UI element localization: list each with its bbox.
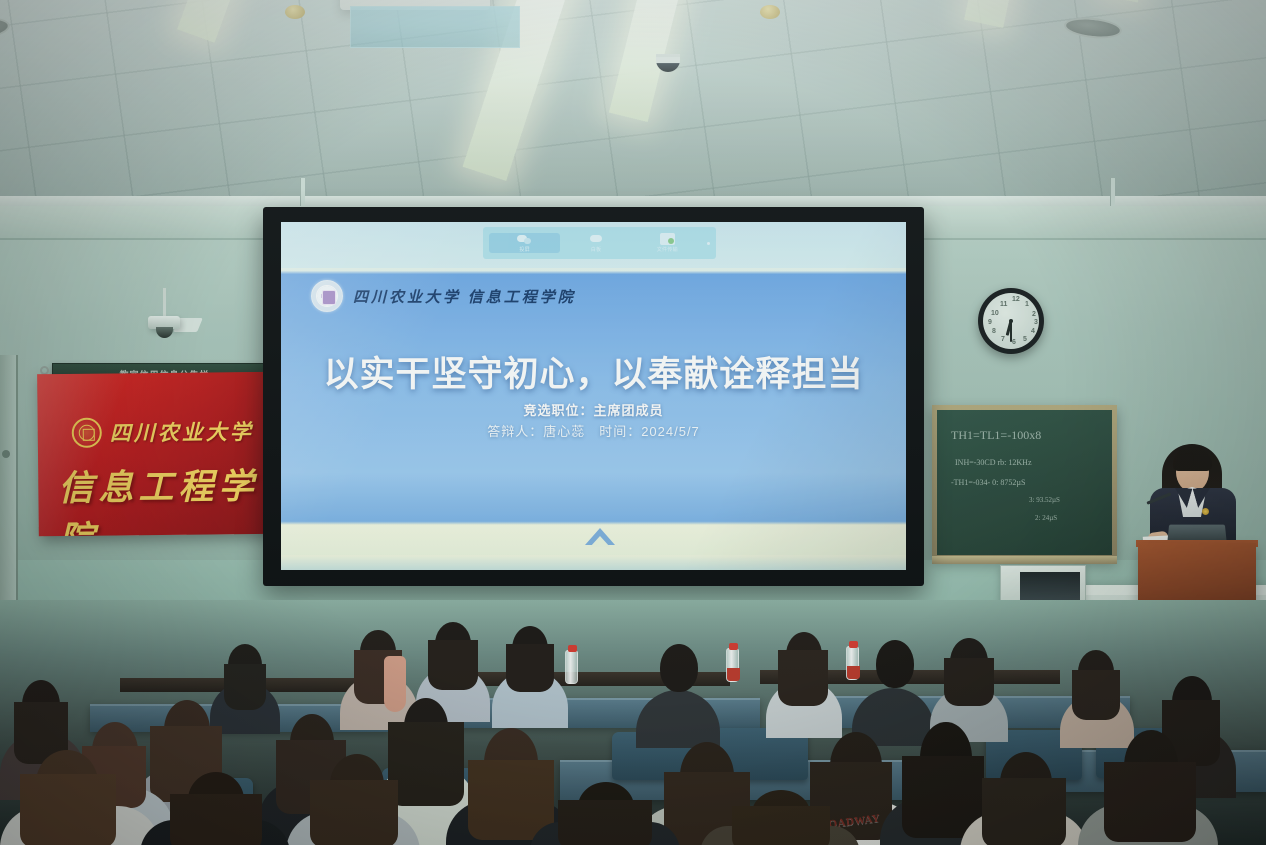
ceiling xyxy=(0,0,1266,210)
blackboard-line: INH=-30CD rb: 12KHz xyxy=(955,458,1032,467)
toolbar-label: 文件传输 xyxy=(657,246,678,253)
blackboard-line: 2: 24µS xyxy=(1035,514,1057,522)
audience-person xyxy=(140,770,290,845)
blackboard: TH1=TL1=-100x8 INH=-30CD rb: 12KHz -TH1=… xyxy=(937,410,1112,555)
audience-person xyxy=(1078,728,1218,845)
university-seal-icon xyxy=(72,418,102,448)
door-knob[interactable] xyxy=(2,450,10,458)
clock-number: 7 xyxy=(1001,336,1005,343)
projection-screen[interactable]: 投屏 白板 文件传输 四川农业大学 信息工程学院 以实干坚守初心，以奉献诠释担当 xyxy=(281,222,906,570)
document-icon xyxy=(660,233,675,245)
clock-face: 12 1 2 3 4 5 6 7 8 9 10 11 xyxy=(983,293,1039,349)
clock-center-pin xyxy=(1009,319,1013,323)
door-frame[interactable] xyxy=(0,355,18,605)
clock-number: 11 xyxy=(1000,301,1007,308)
audience-person xyxy=(766,628,842,732)
clock-number: 5 xyxy=(1023,336,1027,343)
chalk-tray xyxy=(932,556,1117,564)
audience-person xyxy=(530,782,680,845)
ceiling-shading xyxy=(0,0,1266,210)
department-banner: 四川农业大学 信息工程学院 xyxy=(37,372,288,537)
slide-institution: 四川农业大学 信息工程学院 xyxy=(353,286,576,307)
audience-person xyxy=(636,642,720,742)
clock-number: 8 xyxy=(992,328,996,335)
person-hair xyxy=(778,650,828,706)
audience-person xyxy=(960,750,1088,845)
audience-area: ROADWAY xyxy=(0,600,1266,845)
blackboard-line: TH1=TL1=-100x8 xyxy=(951,428,1041,443)
person-hair xyxy=(310,780,398,845)
clock-number: 4 xyxy=(1031,328,1035,335)
audience-person xyxy=(700,790,860,845)
clock-number: 10 xyxy=(991,310,999,317)
audience-person xyxy=(286,752,420,845)
toolbar-label: 白板 xyxy=(591,246,602,253)
person-hair xyxy=(506,644,554,692)
clock-minute-hand xyxy=(1010,321,1012,342)
clock-number: 6 xyxy=(1012,339,1016,346)
banner-university-name: 四川农业大学 xyxy=(110,416,254,448)
person-hair xyxy=(944,658,994,706)
person-hair xyxy=(558,800,652,845)
toolbar-item-file-transfer[interactable]: 文件传输 xyxy=(632,233,703,253)
person-hair xyxy=(170,794,262,845)
wall-clock: 12 1 2 3 4 5 6 7 8 9 10 11 xyxy=(978,288,1044,354)
chevron-up-icon xyxy=(585,528,615,545)
cast-icon xyxy=(517,233,532,245)
audience-person xyxy=(0,750,160,845)
banner-college-name: 信息工程学院 xyxy=(58,458,288,537)
person-hair xyxy=(1104,762,1196,842)
person-hair xyxy=(20,774,116,845)
slide-subtitle-speaker: 答辩人：唐心蕊 时间：2024/5/7 xyxy=(295,421,892,440)
camera-mount xyxy=(163,288,166,318)
person-hair xyxy=(1072,670,1120,720)
banner-top-row: 四川农业大学 xyxy=(72,416,254,448)
lecture-hall-photo: 教室信用信息公告栏 四川农业大学 信息工程学院 12 1 2 3 4 5 6 7… xyxy=(0,0,1266,845)
clock-number: 1 xyxy=(1025,301,1029,308)
toolbar-item-cast[interactable]: 投屏 xyxy=(489,233,560,253)
slide-header: 四川农业大学 信息工程学院 xyxy=(311,280,576,312)
slide-title: 以实干坚守初心，以奉献诠释担当 xyxy=(295,346,892,397)
presentation-slide: 投屏 白板 文件传输 四川农业大学 信息工程学院 以实干坚守初心，以奉献诠释担当 xyxy=(281,222,906,570)
person-hair xyxy=(982,778,1066,845)
toolbar-label: 投屏 xyxy=(519,246,530,253)
person-hair xyxy=(428,640,478,690)
cloud-icon xyxy=(588,233,603,245)
slide-subtitle-position: 竞选职位：主席团成员 xyxy=(295,400,892,419)
person-hair xyxy=(732,806,830,845)
presenter-badge xyxy=(1202,508,1209,515)
clock-number: 3 xyxy=(1034,319,1038,326)
toolbar-more-icon[interactable] xyxy=(707,242,710,245)
slide-content: 四川农业大学 信息工程学院 以实干坚守初心，以奉献诠释担当 竞选职位：主席团成员… xyxy=(295,268,892,523)
screencast-toolbar[interactable]: 投屏 白板 文件传输 xyxy=(483,227,716,259)
clock-number: 12 xyxy=(1012,296,1020,303)
university-seal-icon xyxy=(311,280,343,312)
water-bottle xyxy=(726,648,739,682)
clock-number: 2 xyxy=(1032,311,1036,318)
blackboard-line: -TH1=-034- 0: 8752µS xyxy=(951,478,1025,487)
clock-number: 9 xyxy=(988,319,992,326)
blackboard-line: 3: 93.52µS xyxy=(1029,496,1060,504)
toolbar-item-whiteboard[interactable]: 白板 xyxy=(560,233,631,253)
audience-person xyxy=(492,622,568,722)
blackboard-frame: TH1=TL1=-100x8 INH=-30CD rb: 12KHz -TH1=… xyxy=(932,405,1117,560)
person-head xyxy=(660,644,698,692)
person-head xyxy=(876,640,914,688)
equipment-cabinet-opening xyxy=(1020,572,1080,602)
